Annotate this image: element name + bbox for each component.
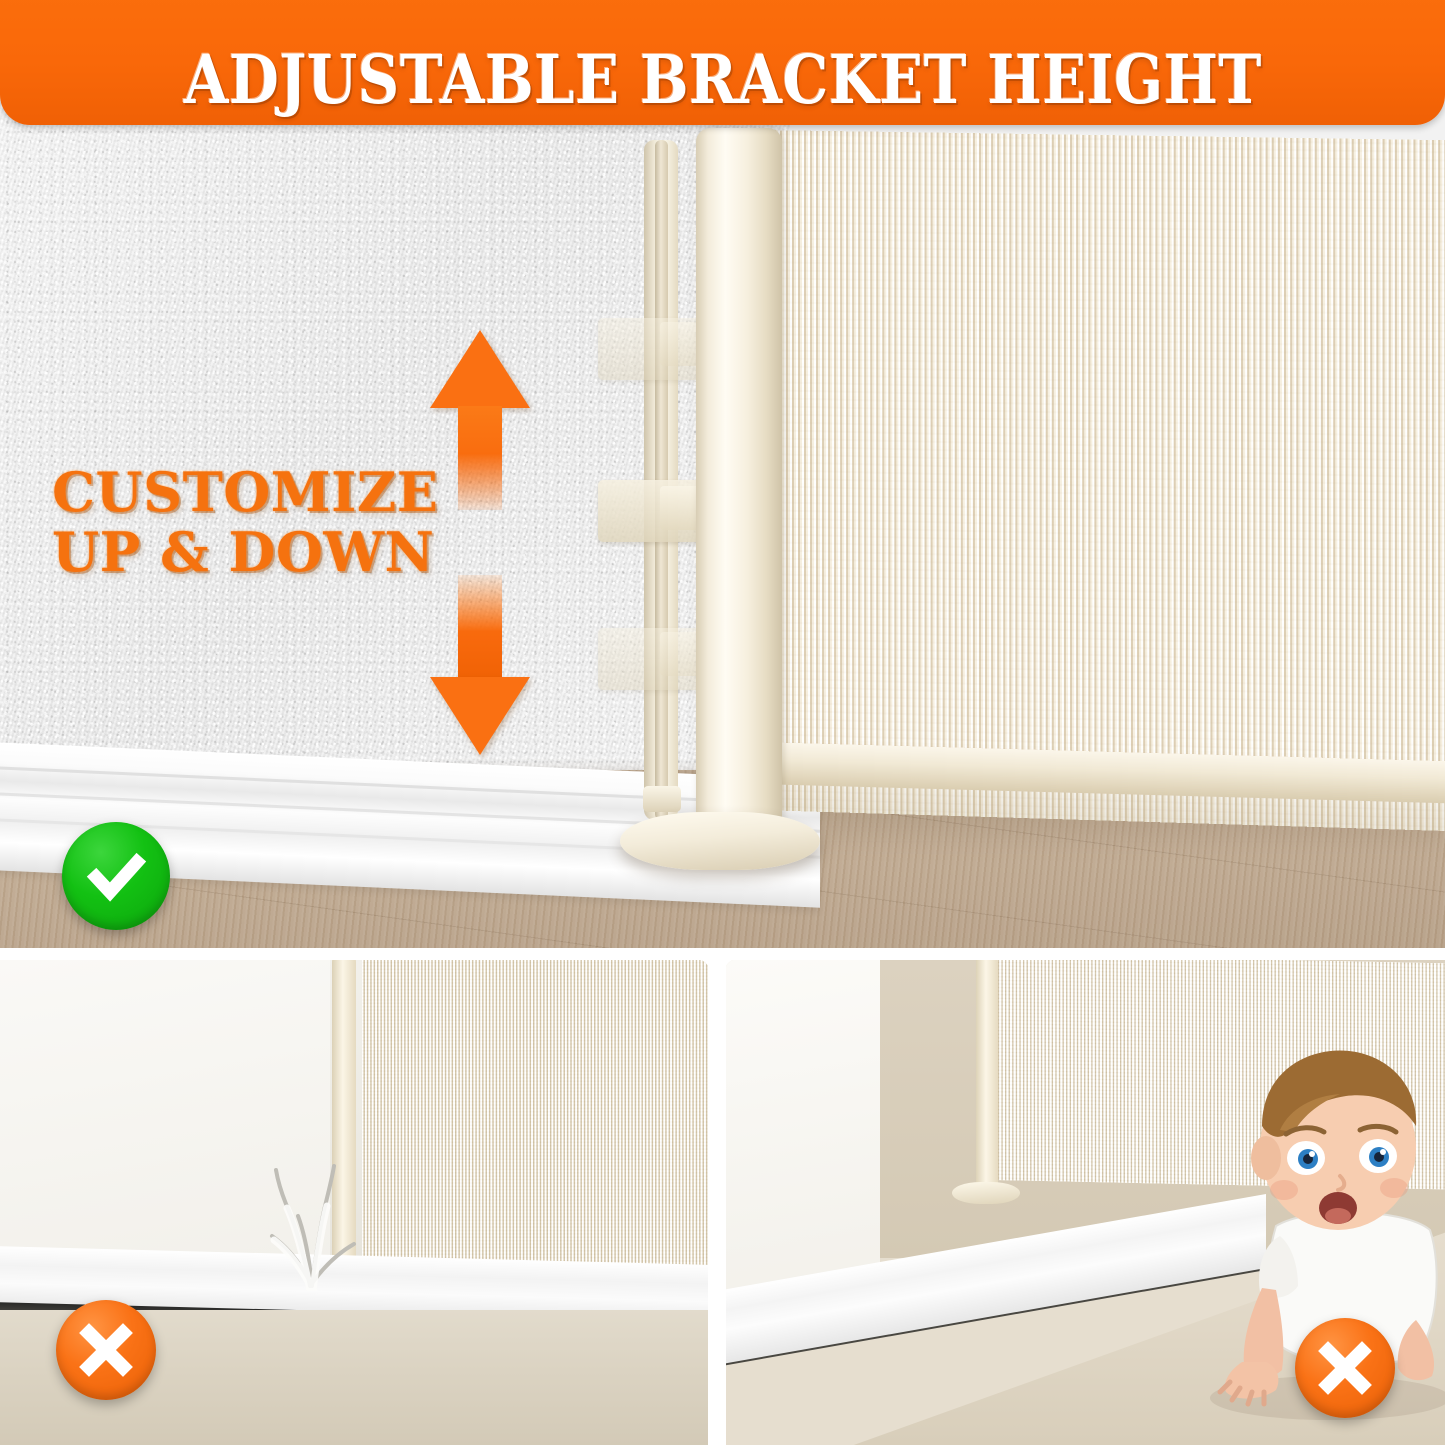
check-badge: [62, 822, 170, 930]
header-banner: ADJUSTABLE BRACKET HEIGHT: [0, 0, 1445, 125]
bl-gate-mesh-panel: [362, 958, 710, 1303]
hero-panel: CUSTOMIZE UP & DOWN: [0, 0, 1445, 950]
check-icon: [83, 843, 149, 909]
gate-mesh-panel: [760, 130, 1445, 832]
x-icon: [1316, 1339, 1374, 1397]
br-gate-post: [976, 958, 998, 1190]
customize-headline: CUSTOMIZE UP & DOWN: [52, 462, 438, 583]
customize-headline-line1: CUSTOMIZE: [52, 462, 438, 522]
customize-headline-line2: UP & DOWN: [52, 522, 438, 582]
x-icon: [77, 1321, 135, 1379]
panel-divider-vertical: [708, 948, 726, 1445]
arrow-down-icon: [430, 575, 530, 755]
gate-base-plate: [620, 812, 820, 870]
banner-title: ADJUSTABLE BRACKET HEIGHT: [183, 46, 1261, 113]
gate-post-collar: [643, 786, 681, 812]
br-white-wall: [724, 958, 880, 1318]
arrow-up-icon: [430, 330, 530, 510]
product-feature-poster: CUSTOMIZE UP & DOWN: [0, 0, 1445, 1445]
br-gate-foot: [952, 1182, 1020, 1204]
x-badge-gap-under-gate: [1295, 1318, 1395, 1418]
x-badge-wall-damage: [56, 1300, 156, 1400]
wall-damage-crack-icon: [238, 1086, 368, 1291]
gate-main-post: [696, 128, 782, 828]
